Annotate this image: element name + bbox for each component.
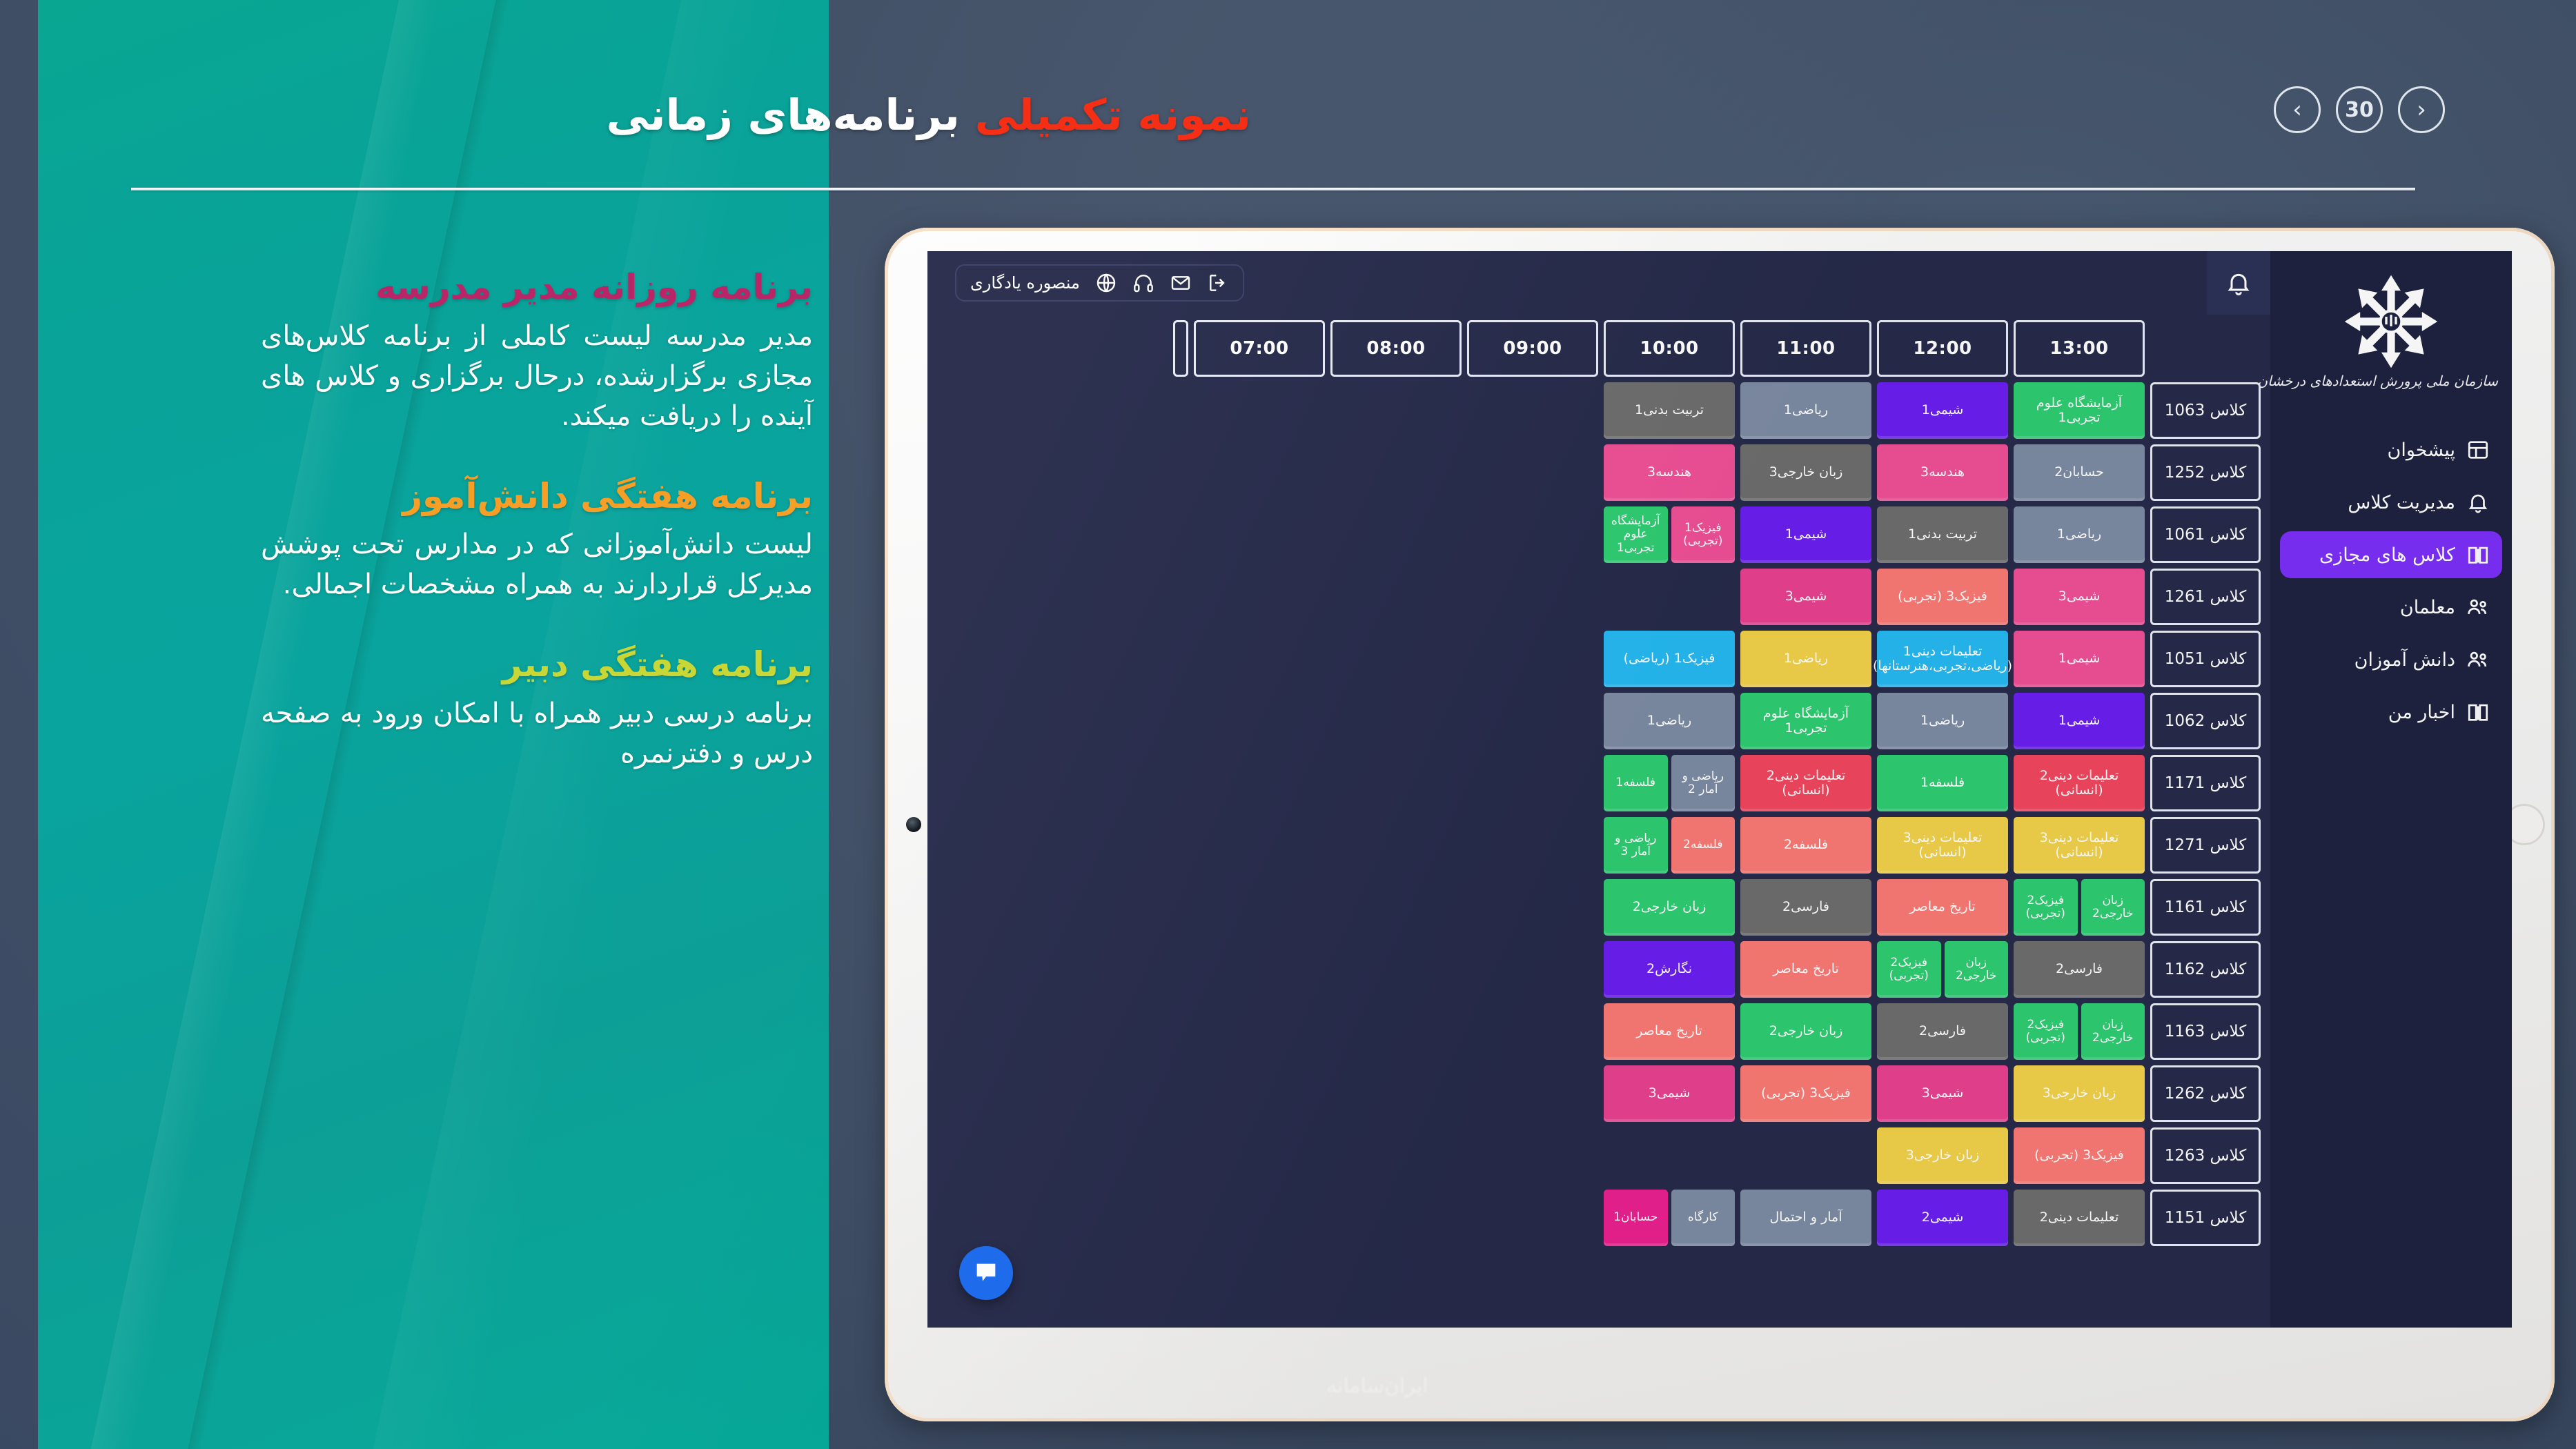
- schedule-row: کلاس 1063آزمایشگاه علوم تجربی1شیمی1ریاضی…: [927, 382, 2261, 439]
- sidebar-item-label: اخبار من: [2388, 702, 2455, 723]
- empty-slot: [1467, 444, 1598, 501]
- schedule-slot: [1467, 1127, 1598, 1184]
- sidebar-item-5[interactable]: اخبار من: [2280, 689, 2502, 736]
- class-column-spacer: [2150, 320, 2261, 377]
- schedule-slot: [1467, 693, 1598, 749]
- schedule-row: کلاس 1051شیمی1تعلیمات دینی1 (ریاضی،تجربی…: [927, 631, 2261, 687]
- schedule-slot-clipped: [1446, 755, 1462, 811]
- class-event-block[interactable]: شیمی3: [2014, 569, 2145, 625]
- schedule-slot: شیمی3: [1604, 1065, 1735, 1122]
- class-event-block[interactable]: ریاضی1: [2014, 506, 2145, 563]
- schedule-slot: شیمی3: [1877, 1065, 2008, 1122]
- header-divider: [131, 188, 2415, 190]
- logout-icon[interactable]: [1207, 272, 1229, 294]
- empty-slot: [1467, 755, 1598, 811]
- class-event-block[interactable]: تاریخ معاصر: [1877, 879, 2008, 936]
- empty-slot: [1467, 941, 1598, 998]
- schedule-row: کلاس 1162فارسی2زبان خارجی2فیزیک2 (تجربی)…: [927, 941, 2261, 998]
- schedule-slot: شیمی2: [1877, 1190, 2008, 1246]
- class-label-cell[interactable]: کلاس 1252: [2150, 444, 2261, 501]
- class-event-block[interactable]: شیمی1: [1740, 506, 1871, 563]
- front-camera-dot: [906, 817, 921, 832]
- class-event-block[interactable]: آمار و احتمال: [1740, 1190, 1871, 1246]
- schedule-slot: فیزیک3 (تجربی): [2014, 1127, 2145, 1184]
- app-topbar: منصوره یادگاری: [927, 251, 2270, 315]
- empty-slot: [1740, 1127, 1871, 1184]
- empty-slot: [1467, 631, 1598, 687]
- schedule-slot: تعلیمات دینی3 (انسانی): [2014, 817, 2145, 874]
- schedule-row: کلاس 1161زبان خارجی2فیزیک2 (تجربی)تاریخ …: [927, 879, 2261, 936]
- feature-section: برنامه روزانه مدیر مدرسهمدیر مدرسه لیست …: [261, 266, 813, 436]
- class-event-block[interactable]: فیزیک2 (تجربی): [2014, 879, 2078, 936]
- sidebar-item-label: کلاس های مجازی: [2319, 544, 2455, 566]
- class-label-cell[interactable]: کلاس 1261: [2150, 569, 2261, 625]
- class-event-block[interactable]: فیزیک1 (تجربی): [1671, 506, 1736, 563]
- page-number-label: 30: [2345, 98, 2374, 122]
- hour-header: 07:00: [1194, 320, 1325, 377]
- class-label-cell[interactable]: کلاس 1063: [2150, 382, 2261, 439]
- class-event-block[interactable]: زبان خارجی2: [1604, 879, 1735, 936]
- class-event-block[interactable]: زبان خارجی2: [1945, 941, 2009, 998]
- schedule-slot: ریاضی1: [2014, 506, 2145, 563]
- empty-slot: [1467, 1127, 1598, 1184]
- page-title-main: برنامه‌های زمانی: [607, 90, 960, 140]
- feature-body: لیست دانش‌آموزانی که در مدارس تحت پوشش م…: [261, 524, 813, 604]
- class-event-block[interactable]: زبان خارجی2: [2081, 879, 2145, 936]
- schedule-slot-clipped: [1446, 879, 1462, 936]
- schedule-slot: ریاضی1: [1604, 693, 1735, 749]
- schedule-slot-clipped: [1446, 1065, 1462, 1122]
- schedule-row: کلاس 1262زبان خارجی3شیمی3فیزیک3 (تجربی)ش…: [927, 1065, 2261, 1122]
- schedule-slot: کارگاهحسابان1: [1604, 1190, 1735, 1246]
- feature-section: برنامه هفتگی دبیربرنامه درسی دبیر همراه …: [261, 643, 813, 773]
- schedule-slot: ریاضی1: [1740, 631, 1871, 687]
- class-event-block[interactable]: ریاضی1: [1877, 693, 2008, 749]
- schedule-grid: 13:0012:0011:0010:0009:0008:0007:00کلاس …: [927, 315, 2261, 1246]
- schedule-slot: حسابان2: [2014, 444, 2145, 501]
- brand-block: سازمان ملی پرورش استعدادهای درخشان: [2270, 266, 2512, 426]
- sidebar-item-2[interactable]: کلاس های مجازی: [2280, 531, 2502, 578]
- class-event-block[interactable]: فلسفه1: [1604, 755, 1668, 811]
- feature-heading: برنامه هفتگی دبیر: [261, 643, 813, 687]
- schedule-slot: تعلیمات دینی2 (انسانی): [1740, 755, 1871, 811]
- schedule-slot: زبان خارجی2فیزیک2 (تجربی): [2014, 1003, 2145, 1060]
- bell-icon: [2225, 269, 2252, 297]
- hour-header: 10:00: [1604, 320, 1735, 377]
- users-icon: [2466, 595, 2490, 619]
- hour-header: 12:00: [1877, 320, 2008, 377]
- class-event-block[interactable]: هندسه3: [1877, 444, 2008, 501]
- schedule-slot: تعلیمات دینی2 (انسانی): [2014, 755, 2145, 811]
- hour-header: 11:00: [1740, 320, 1871, 377]
- tablet-device-frame: سازمان ملی پرورش استعدادهای درخشان پیشخو…: [885, 228, 2555, 1421]
- class-label-cell[interactable]: کلاس 1161: [2150, 879, 2261, 936]
- empty-slot: [1604, 569, 1735, 625]
- schedule-slot: [1467, 569, 1598, 625]
- class-event-block[interactable]: حسابان1: [1604, 1190, 1668, 1246]
- class-event-block[interactable]: تعلیمات دینی1 (ریاضی،تجربی،هنرستانها): [1877, 631, 2008, 687]
- class-event-block[interactable]: حسابان2: [2014, 444, 2145, 501]
- schedule-slot: تاریخ معاصر: [1877, 879, 2008, 936]
- chat-icon: [972, 1259, 1000, 1287]
- schedule-slot-clipped: [1446, 1003, 1462, 1060]
- schedule-slot: هندسه3: [1604, 444, 1735, 501]
- class-event-block[interactable]: فارسی2: [2014, 941, 2145, 998]
- sidebar-nav: پیشخوانمدیریت کلاسکلاس های مجازیمعلماندا…: [2270, 426, 2512, 736]
- schedule-slot: شیمی1: [2014, 631, 2145, 687]
- slide-pager: ‹ 30 ›: [2274, 86, 2445, 133]
- schedule-slot: تاریخ معاصر: [1604, 1003, 1735, 1060]
- schedule-slot: [1467, 755, 1598, 811]
- schedule-slot-clipped: [1446, 693, 1462, 749]
- hour-header-clipped: [1173, 320, 1188, 377]
- class-event-block[interactable]: هندسه3: [1604, 444, 1735, 501]
- screen-watermark: ایران‌سامانه: [1326, 1374, 1428, 1398]
- schedule-slot: [1467, 1003, 1598, 1060]
- schedule-slot: فلسفه2ریاضی و آمار 3: [1604, 817, 1735, 874]
- next-slide-button[interactable]: ›: [2398, 86, 2445, 133]
- schedule-slot: شیمی1: [1877, 382, 2008, 439]
- schedule-row: کلاس 1062شیمی1ریاضی1آزمایشگاه علوم تجربی…: [927, 693, 2261, 749]
- schedule-slot: زبان خارجی2: [1740, 1003, 1871, 1060]
- class-event-block[interactable]: شیمی2: [1877, 1190, 2008, 1246]
- class-event-block[interactable]: ریاضی و آمار 2: [1671, 755, 1736, 811]
- sidebar-item-1[interactable]: مدیریت کلاس: [2280, 479, 2502, 526]
- schedule-slot: [1467, 631, 1598, 687]
- empty-slot: [1467, 569, 1598, 625]
- schedule-slot: فیزیک3 (تجربی): [1740, 1065, 1871, 1122]
- class-label-cell[interactable]: کلاس 1061: [2150, 506, 2261, 563]
- class-label-cell[interactable]: کلاس 1062: [2150, 693, 2261, 749]
- schedule-slot: شیمی1: [1740, 506, 1871, 563]
- class-label-cell[interactable]: کلاس 1163: [2150, 1003, 2261, 1060]
- class-event-block[interactable]: آزمایشگاه علوم تجربی1: [1604, 506, 1668, 563]
- schedule-slot: ریاضی1: [1740, 382, 1871, 439]
- schedule-slot: شیمی3: [2014, 569, 2145, 625]
- class-event-block[interactable]: فلسفه2: [1671, 817, 1736, 874]
- schedule-slot: زبان خارجی3: [1877, 1127, 2008, 1184]
- class-event-block[interactable]: تربیت بدنی1: [1604, 382, 1735, 439]
- feature-body: برنامه درسی دبیر همراه با امکان ورود به …: [261, 693, 813, 773]
- empty-slot: [1467, 1065, 1598, 1122]
- class-label-cell[interactable]: کلاس 1263: [2150, 1127, 2261, 1184]
- schedule-slot: [1467, 817, 1598, 874]
- schedule-slot: زبان خارجی2: [1604, 879, 1735, 936]
- class-event-block[interactable]: فیزیک3 (تجربی): [1877, 569, 2008, 625]
- class-event-block[interactable]: زبان خارجی3: [2014, 1065, 2145, 1122]
- class-event-block[interactable]: ریاضی و آمار 3: [1604, 817, 1668, 874]
- schedule-slot: زبان خارجی3: [2014, 1065, 2145, 1122]
- page-title: نمونه تکمیلی برنامه‌های زمانی: [354, 90, 1251, 141]
- schedule-row: کلاس 1163زبان خارجی2فیزیک2 (تجربی)فارسی2…: [927, 1003, 2261, 1060]
- schedule-slot: فیزیک1 (ریاضی): [1604, 631, 1735, 687]
- empty-slot: [1467, 693, 1598, 749]
- schedule-slot: فارسی2: [1740, 879, 1871, 936]
- schedule-slot: فارسی2: [1877, 1003, 2008, 1060]
- schedule-row: کلاس 1271تعلیمات دینی3 (انسانی)تعلیمات د…: [927, 817, 2261, 874]
- schedule-slot-clipped: [1446, 382, 1462, 439]
- class-event-block[interactable]: فیزیک2 (تجربی): [2014, 1003, 2078, 1060]
- users-icon: [2466, 648, 2490, 671]
- chevron-right-icon: ›: [2417, 98, 2426, 121]
- class-event-block[interactable]: کارگاه: [1671, 1190, 1736, 1246]
- schedule-slot: تعلیمات دینی1 (ریاضی،تجربی،هنرستانها): [1877, 631, 2008, 687]
- empty-slot: [1604, 1127, 1735, 1184]
- class-event-block[interactable]: فارسی2: [1740, 879, 1871, 936]
- schedule-slot: فارسی2: [2014, 941, 2145, 998]
- notification-bell-button[interactable]: [2207, 251, 2270, 315]
- schedule-slot: [1467, 506, 1598, 563]
- empty-slot: [1467, 382, 1598, 439]
- envelope-icon[interactable]: [1170, 272, 1192, 294]
- sidebar-item-label: دانش آموزان: [2354, 649, 2455, 671]
- class-event-block[interactable]: فیزیک2 (تجربی): [1877, 941, 1941, 998]
- chevron-left-icon: ‹: [2292, 98, 2302, 121]
- class-label-cell[interactable]: کلاس 1262: [2150, 1065, 2261, 1122]
- schedule-slot: [1467, 382, 1598, 439]
- sidebar-item-3[interactable]: معلمان: [2280, 584, 2502, 631]
- schedule-row: کلاس 1061ریاضی1تربیت بدنی1شیمی1فیزیک1 (ت…: [927, 506, 2261, 563]
- page-title-accent: نمونه تکمیلی: [975, 90, 1251, 140]
- schedule-row: کلاس 1151تعلیمات دینی2شیمی2آمار و احتمال…: [927, 1190, 2261, 1246]
- class-event-block[interactable]: شیمی1: [2014, 631, 2145, 687]
- class-event-block[interactable]: شیمی1: [2014, 693, 2145, 749]
- sidebar-item-label: پیشخوان: [2388, 440, 2455, 461]
- hour-header: 13:00: [2014, 320, 2145, 377]
- class-event-block[interactable]: آزمایشگاه علوم تجربی1: [2014, 382, 2145, 439]
- class-event-block[interactable]: فیزیک3 (تجربی): [1740, 1065, 1871, 1122]
- schedule-slot: ریاضی و آمار 2فلسفه1: [1604, 755, 1735, 811]
- empty-slot: [1467, 817, 1598, 874]
- class-event-block[interactable]: زبان خارجی2: [1740, 1003, 1871, 1060]
- feature-sections: برنامه روزانه مدیر مدرسهمدیر مدرسه لیست …: [261, 266, 813, 812]
- empty-slot: [1467, 1003, 1598, 1060]
- user-name-label: منصوره یادگاری: [970, 273, 1080, 293]
- schedule-slot: ریاضی1: [1877, 693, 2008, 749]
- class-event-block[interactable]: آزمایشگاه علوم تجربی1: [1740, 693, 1871, 749]
- class-event-block[interactable]: شیمی3: [1740, 569, 1871, 625]
- schedule-slot-clipped: [1446, 817, 1462, 874]
- class-label-cell[interactable]: کلاس 1162: [2150, 941, 2261, 998]
- class-event-block[interactable]: زبان خارجی3: [1740, 444, 1871, 501]
- schedule-slot: شیمی3: [1740, 569, 1871, 625]
- schedule-slot: تربیت بدنی1: [1604, 382, 1735, 439]
- sidebar-item-0[interactable]: پیشخوان: [2280, 426, 2502, 473]
- class-event-block[interactable]: تعلیمات دینی3 (انسانی): [2014, 817, 2145, 874]
- hour-header: 09:00: [1467, 320, 1598, 377]
- book-icon: [2466, 543, 2490, 566]
- sidebar-item-label: مدیریت کلاس: [2348, 492, 2455, 513]
- prev-slide-button[interactable]: ‹: [2274, 86, 2321, 133]
- class-label-cell[interactable]: کلاس 1171: [2150, 755, 2261, 811]
- class-event-block[interactable]: تعلیمات دینی2 (انسانی): [2014, 755, 2145, 811]
- class-event-block[interactable]: فارسی2: [1877, 1003, 2008, 1060]
- class-event-block[interactable]: ریاضی1: [1740, 382, 1871, 439]
- schedule-slot: آمار و احتمال: [1740, 1190, 1871, 1246]
- schedule-slot-clipped: [1446, 941, 1462, 998]
- class-event-block[interactable]: تعلیمات دینی3 (انسانی): [1877, 817, 2008, 874]
- class-label-cell[interactable]: کلاس 1151: [2150, 1190, 2261, 1246]
- empty-slot: [1467, 879, 1598, 936]
- class-event-block[interactable]: تاریخ معاصر: [1740, 941, 1871, 998]
- class-event-block[interactable]: تاریخ معاصر: [1604, 1003, 1735, 1060]
- class-event-block[interactable]: تعلیمات دینی2 (انسانی): [1740, 755, 1871, 811]
- schedule-slot: هندسه3: [1877, 444, 2008, 501]
- class-event-block[interactable]: شیمی3: [1604, 1065, 1735, 1122]
- schedule-slot-clipped: [1446, 1190, 1462, 1246]
- schedule-slot: فیزیک1 (تجربی)آزمایشگاه علوم تجربی1: [1604, 506, 1735, 563]
- dashboard-icon: [2466, 438, 2490, 462]
- page-number-badge: 30: [2336, 86, 2383, 133]
- class-event-block[interactable]: فیزیک3 (تجربی): [2014, 1127, 2145, 1184]
- class-event-block[interactable]: ریاضی1: [1740, 631, 1871, 687]
- sidebar-item-label: معلمان: [2400, 597, 2455, 618]
- schedule-slot: نگارش2: [1604, 941, 1735, 998]
- globe-icon[interactable]: [1095, 272, 1117, 294]
- schedule-slot: فیزیک3 (تجربی): [1877, 569, 2008, 625]
- schedule-slot: تاریخ معاصر: [1740, 941, 1871, 998]
- feature-body: مدیر مدرسه لیست کاملی از برنامه کلاس‌های…: [261, 316, 813, 436]
- schedule-slot: شیمی1: [2014, 693, 2145, 749]
- class-event-block[interactable]: ریاضی1: [1604, 693, 1735, 749]
- schedule-slot: زبان خارجی2فیزیک2 (تجربی): [1877, 941, 2008, 998]
- schedule-slot: [1604, 569, 1735, 625]
- class-label-cell[interactable]: کلاس 1051: [2150, 631, 2261, 687]
- chat-support-button[interactable]: [959, 1246, 1013, 1300]
- schedule-slot: [1467, 444, 1598, 501]
- schedule-slot: آزمایشگاه علوم تجربی1: [1740, 693, 1871, 749]
- schedule-row: کلاس 1252حسابان2هندسه3زبان خارجی3هندسه3: [927, 444, 2261, 501]
- slide-canvas: نمونه تکمیلی برنامه‌های زمانی ‹ 30 › برن…: [0, 0, 2576, 1449]
- schedule-slot: تعلیمات دینی2: [2014, 1190, 2145, 1246]
- class-event-block[interactable]: نگارش2: [1604, 941, 1735, 998]
- schedule-row: کلاس 1171تعلیمات دینی2 (انسانی)فلسفه1تعل…: [927, 755, 2261, 811]
- schedule-header-row: 13:0012:0011:0010:0009:0008:0007:00: [927, 320, 2261, 377]
- schedule-slot: [1467, 1065, 1598, 1122]
- book-icon: [2466, 700, 2490, 724]
- schedule-slot: تربیت بدنی1: [1877, 506, 2008, 563]
- class-event-block[interactable]: فلسفه1: [1877, 755, 2008, 811]
- empty-slot: [1467, 1190, 1598, 1246]
- empty-slot: [1467, 506, 1598, 563]
- schedule-scroll-area[interactable]: 13:0012:0011:0010:0009:0008:0007:00کلاس …: [927, 315, 2270, 1328]
- schedule-slot: زبان خارجی2فیزیک2 (تجربی): [2014, 879, 2145, 936]
- schedule-slot: [1467, 1190, 1598, 1246]
- schedule-slot: فلسفه1: [1877, 755, 2008, 811]
- schedule-slot: [1740, 1127, 1871, 1184]
- schedule-slot-clipped: [1446, 569, 1462, 625]
- sidebar-item-4[interactable]: دانش آموزان: [2280, 636, 2502, 683]
- schedule-slot: زبان خارجی3: [1740, 444, 1871, 501]
- class-event-block[interactable]: فلسفه2: [1740, 817, 1871, 874]
- schedule-row: کلاس 1263فیزیک3 (تجربی)زبان خارجی3: [927, 1127, 2261, 1184]
- feature-heading: برنامه هفتگی دانش‌آموز: [261, 475, 813, 518]
- schedule-slot: [1467, 879, 1598, 936]
- schedule-slot: [1467, 941, 1598, 998]
- class-event-block[interactable]: شیمی1: [1877, 382, 2008, 439]
- schedule-slot: آزمایشگاه علوم تجربی1: [2014, 382, 2145, 439]
- class-event-block[interactable]: زبان خارجی3: [1877, 1127, 2008, 1184]
- user-account-chip[interactable]: منصوره یادگاری: [955, 264, 1244, 302]
- feature-section: برنامه هفتگی دانش‌آموزلیست دانش‌آموزانی …: [261, 475, 813, 605]
- app-sidebar: سازمان ملی پرورش استعدادهای درخشان پیشخو…: [2270, 251, 2512, 1328]
- brand-subtitle: سازمان ملی پرورش استعدادهای درخشان: [2284, 373, 2498, 389]
- class-event-block[interactable]: شیمی3: [1877, 1065, 2008, 1122]
- schedule-row: کلاس 1261شیمی3فیزیک3 (تجربی)شیمی3: [927, 569, 2261, 625]
- class-event-block[interactable]: تعلیمات دینی2: [2014, 1190, 2145, 1246]
- app-main: منصوره یادگاری 13:0012:0011:0010:0009:00…: [927, 251, 2270, 1328]
- sampad-logo-icon: [2339, 273, 2443, 370]
- class-event-block[interactable]: فیزیک1 (ریاضی): [1604, 631, 1735, 687]
- schedule-slot-clipped: [1446, 444, 1462, 501]
- feature-heading: برنامه روزانه مدیر مدرسه: [261, 266, 813, 309]
- schedule-slot: فلسفه2: [1740, 817, 1871, 874]
- schedule-slot: تعلیمات دینی3 (انسانی): [1877, 817, 2008, 874]
- bell-icon: [2466, 491, 2490, 514]
- headphones-icon[interactable]: [1132, 272, 1154, 294]
- schedule-slot-clipped: [1446, 506, 1462, 563]
- app-screen: سازمان ملی پرورش استعدادهای درخشان پیشخو…: [927, 251, 2512, 1328]
- schedule-slot: [1604, 1127, 1735, 1184]
- hour-header: 08:00: [1330, 320, 1462, 377]
- schedule-slot-clipped: [1446, 631, 1462, 687]
- class-label-cell[interactable]: کلاس 1271: [2150, 817, 2261, 874]
- class-event-block[interactable]: تربیت بدنی1: [1877, 506, 2008, 563]
- schedule-slot-clipped: [1446, 1127, 1462, 1184]
- class-event-block[interactable]: زبان خارجی2: [2081, 1003, 2145, 1060]
